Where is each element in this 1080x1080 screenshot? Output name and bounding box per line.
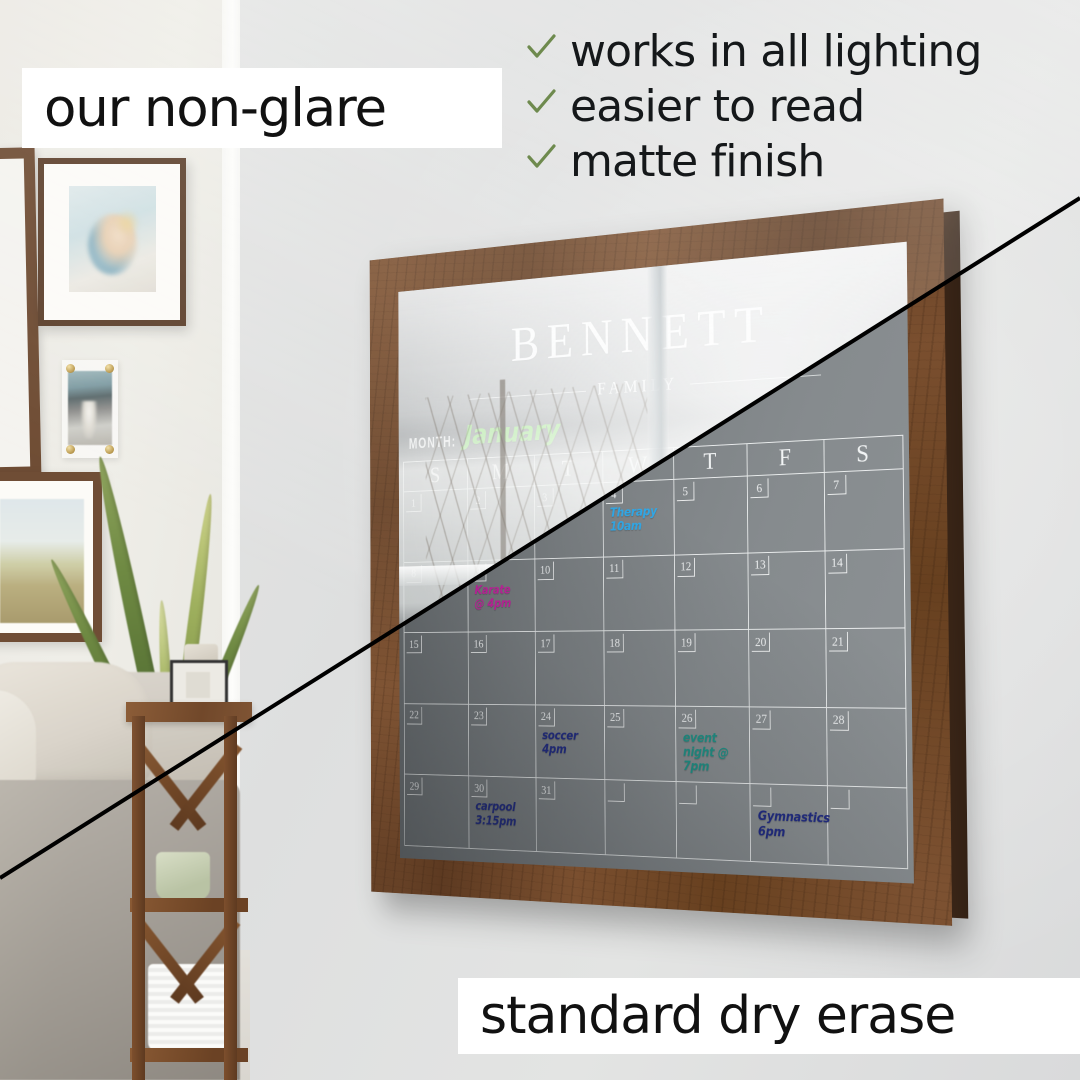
feature-bullet-label: works in all lighting [570, 26, 982, 77]
check-icon [526, 134, 556, 176]
label-non-glare: our non-glare [22, 68, 502, 148]
label-standard-dry-erase: standard dry erase [458, 978, 1080, 1054]
feature-bullet: works in all lighting [526, 24, 1074, 77]
feature-bullet-list: works in all lightingeasier to readmatte… [526, 24, 1074, 189]
feature-bullet-label: easier to read [570, 81, 864, 132]
check-icon [526, 79, 556, 121]
feature-bullet-label: matte finish [570, 136, 824, 187]
feature-bullet: easier to read [526, 79, 1074, 132]
divider-line [0, 198, 1080, 878]
feature-bullet: matte finish [526, 134, 1074, 187]
check-icon [526, 24, 556, 66]
product-marketing-image: BENNETT FAMILY MONTH: January SMTWTFS 12… [0, 0, 1080, 1080]
